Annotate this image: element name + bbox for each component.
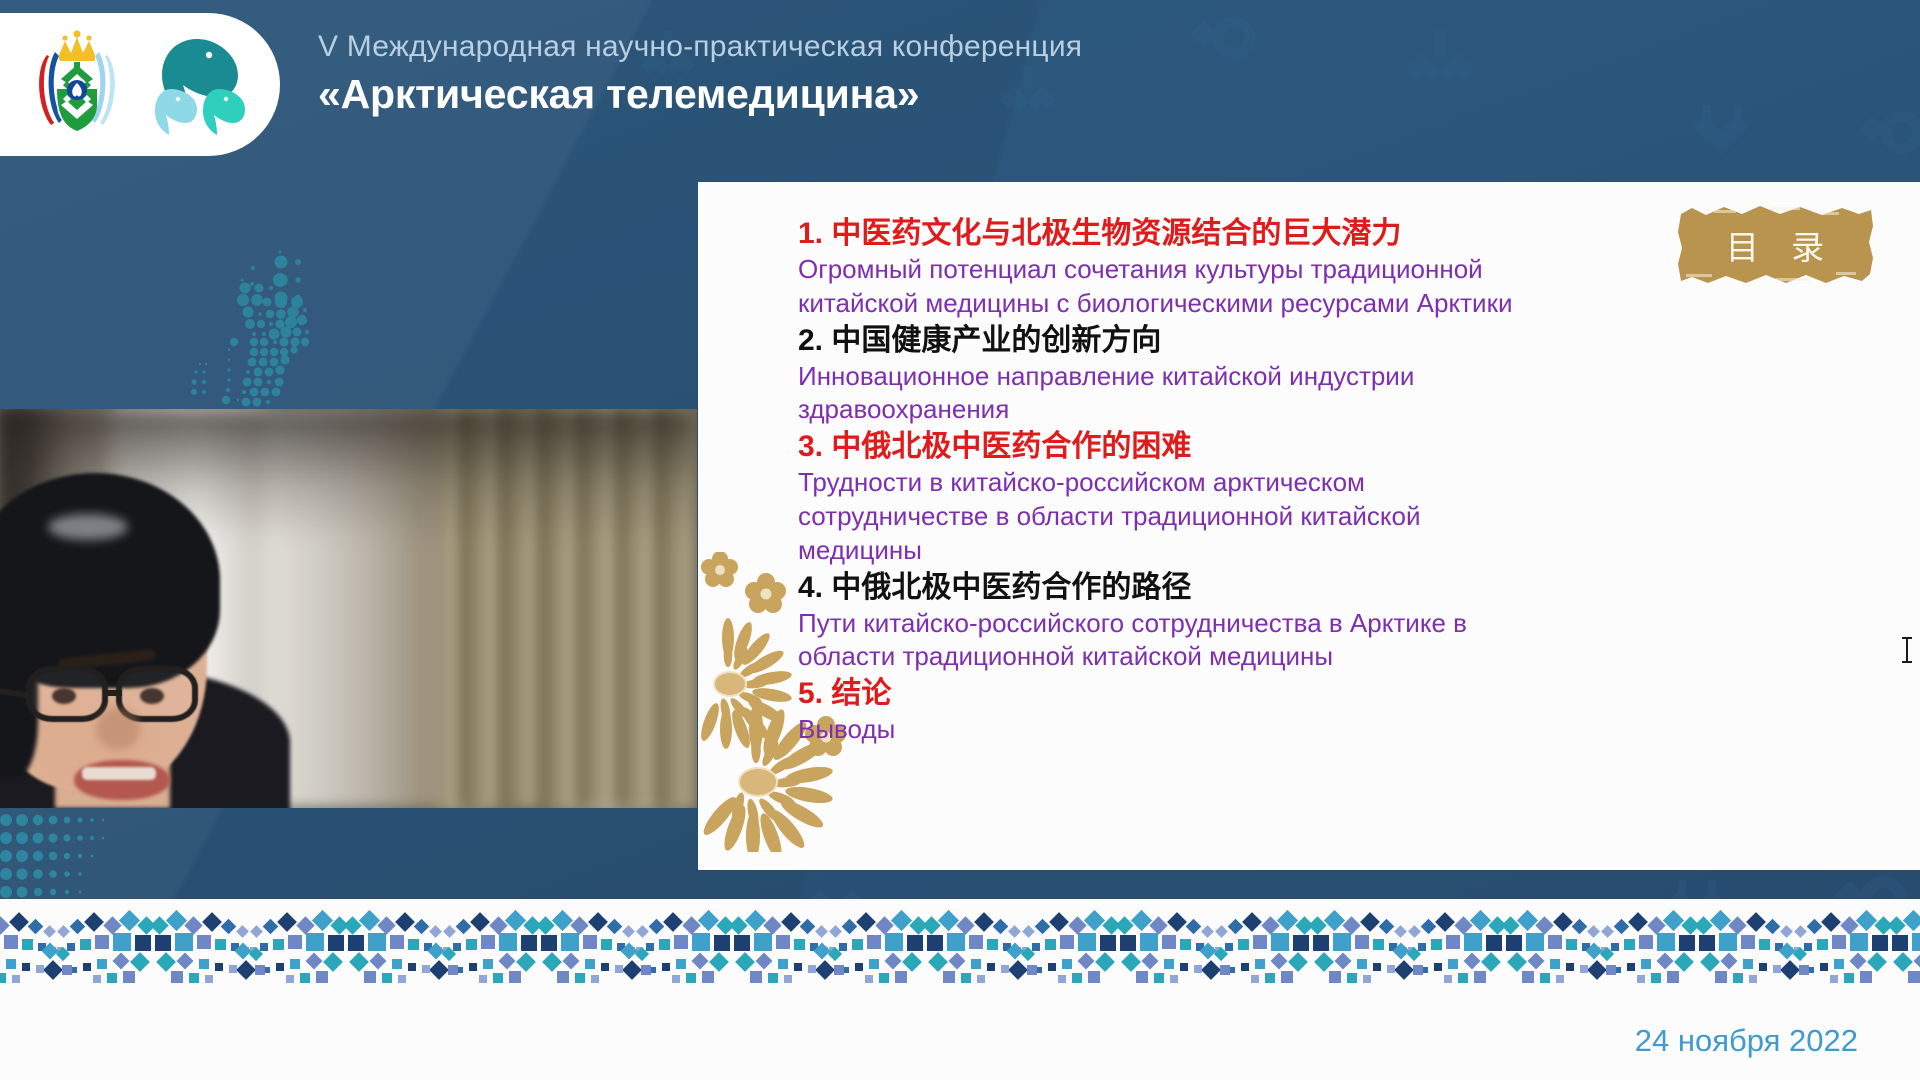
- toc-line-item3-cn: 3. 中俄北极中医药合作的困难: [798, 427, 1798, 466]
- toc-line-item5-ru-1: Выводы: [798, 713, 1798, 747]
- video-participant-tile[interactable]: [0, 409, 697, 808]
- text-cursor-icon: [1906, 637, 1908, 663]
- toc-line-item2-ru-1: Инновационное направление китайской инду…: [798, 360, 1798, 394]
- logo-pill: [0, 13, 280, 156]
- presentation-stage: V Международная научно-практическая конф…: [0, 0, 1920, 1080]
- slide-toc-list: 1. 中医药文化与北极生物资源结合的巨大潜力 Огромный потенциа…: [798, 214, 1798, 747]
- toc-line-item1-cn: 1. 中医药文化与北极生物资源结合的巨大潜力: [798, 214, 1798, 253]
- toc-line-item4-ru-2: области традиционной китайской медицины: [798, 640, 1798, 674]
- toc-line-item1-ru-2: китайской медицины с биологическими ресу…: [798, 287, 1798, 321]
- nenets-coat-of-arms-icon: [31, 29, 123, 141]
- toc-line-item3-ru-2: сотрудничестве в области традиционной ки…: [798, 500, 1798, 534]
- conference-subtitle: V Международная научно-практическая конф…: [318, 30, 1082, 63]
- video-frame: [0, 409, 697, 808]
- toc-line-item3-ru-3: медицины: [798, 534, 1798, 568]
- conference-header: V Международная научно-практическая конф…: [0, 0, 1920, 170]
- toc-line-item2-ru-2: здравоохранения: [798, 393, 1798, 427]
- bird-family-logo-icon: [145, 33, 249, 137]
- toc-line-item4-cn: 4. 中俄北极中医药合作的路径: [798, 568, 1798, 607]
- presentation-slide[interactable]: 目 录 1. 中医药文化与北极生物资源结合的巨大潜力 Огромный поте…: [698, 182, 1920, 870]
- nenets-diamond-ornament-icon: [0, 907, 1920, 995]
- footer-date-bar: 24 ноября 2022: [0, 1002, 1920, 1080]
- toc-line-item3-ru-1: Трудности в китайско-российском арктичес…: [798, 466, 1798, 500]
- conference-date: 24 ноября 2022: [1635, 1023, 1858, 1059]
- footer-ornament-band: [0, 899, 1920, 1002]
- toc-line-item1-ru-1: Огромный потенциал сочетания культуры тр…: [798, 253, 1798, 287]
- toc-line-item4-ru-1: Пути китайско-российского сотрудничества…: [798, 607, 1798, 641]
- toc-line-item2-cn: 2. 中国健康产业的创新方向: [798, 321, 1798, 360]
- header-title-block: V Международная научно-практическая конф…: [318, 30, 1082, 117]
- toc-line-item5-cn: 5. 结论: [798, 674, 1798, 713]
- conference-title: «Арктическая телемедицина»: [318, 72, 1082, 117]
- participant-figure: [0, 448, 300, 808]
